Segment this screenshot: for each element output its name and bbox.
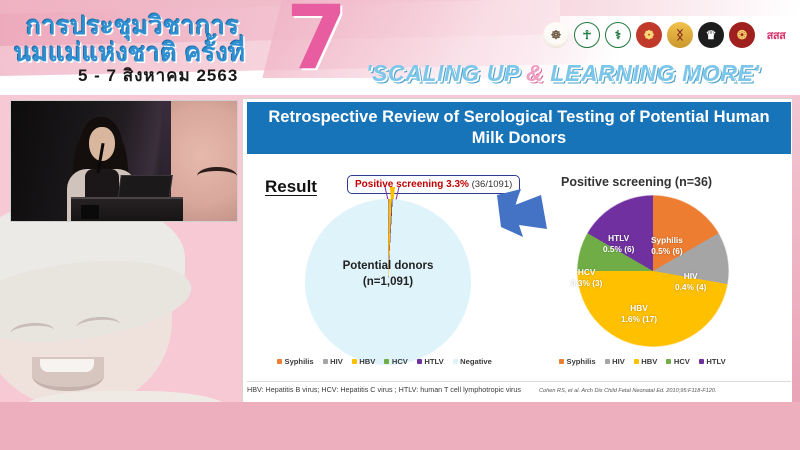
- logo-gold-garuda: ᛝ: [667, 22, 693, 48]
- legend2-swatch-syphilis: [559, 359, 564, 364]
- legend-label-hiv: HIV: [330, 357, 343, 366]
- speaker-video-feed[interactable]: [10, 100, 238, 222]
- legend-label-negative: Negative: [460, 357, 492, 366]
- legend2-swatch-hbv: [634, 359, 639, 364]
- royal-seal-logo-icon: ☸: [543, 22, 569, 48]
- logo-black-emblem: ♛: [698, 22, 724, 48]
- legend-label-syphilis: Syphilis: [285, 357, 314, 366]
- legend-item-syphilis: Syphilis: [277, 357, 314, 366]
- legend2-swatch-hcv: [666, 359, 671, 364]
- black-emblem-logo-icon: ♛: [698, 22, 724, 48]
- legend-swatch-htlv: [417, 359, 422, 364]
- blue-arrow-icon: [495, 187, 551, 239]
- presentation-slide[interactable]: Retrospective Review of Serological Test…: [242, 98, 794, 403]
- legend2-swatch-hiv: [605, 359, 610, 364]
- slice-hcv-name: HCV: [571, 267, 602, 278]
- legend-swatch-syphilis: [277, 359, 282, 364]
- slice-hiv-name: HIV: [675, 271, 706, 282]
- legend-item-hcv: HCV: [384, 357, 408, 366]
- green-circle-logo-2-icon: ⚕: [605, 22, 631, 48]
- pie-slice-label-htlv: HTLV 0.5% (6): [603, 233, 634, 255]
- footnote-abbreviations: HBV: Hepatitis B virus; HCV: Hepatitis C…: [247, 385, 521, 394]
- podium-plate: [81, 205, 99, 219]
- pie-slice-label-hiv: HIV 0.4% (4): [675, 271, 706, 293]
- red-emblem-logo-icon: ❁: [636, 22, 662, 48]
- slice-htlv-value: 0.5% (6): [603, 244, 634, 255]
- slice-htlv-name: HTLV: [603, 233, 634, 244]
- pie-slice-label-hcv: HCV 0.3% (3): [571, 267, 602, 289]
- legend2-swatch-htlv: [699, 359, 704, 364]
- positive-screening-pie-chart[interactable]: Syphilis 0.5% (6) HIV 0.4% (4) HBV 1.6% …: [565, 195, 745, 355]
- slide-title: Retrospective Review of Serological Test…: [247, 102, 791, 154]
- slice-syphilis-value: 0.5% (6): [651, 246, 683, 257]
- legend-item-htlv: HTLV: [417, 357, 444, 366]
- slice-hiv-value: 0.4% (4): [675, 282, 706, 293]
- legend-label-htlv: HTLV: [424, 357, 443, 366]
- maroon-emblem-logo-icon: ❂: [729, 22, 755, 48]
- legend-swatch-negative: [453, 359, 458, 364]
- watermark-child-teeth: [40, 359, 94, 372]
- slice-hbv-name: HBV: [621, 303, 657, 314]
- legend2-label-hbv: HBV: [641, 357, 657, 366]
- pie-slice-label-syphilis: Syphilis 0.5% (6): [651, 235, 683, 257]
- logo-maroon-emblem: ❂: [729, 22, 755, 48]
- slice-syphilis-name: Syphilis: [651, 235, 683, 246]
- tagline-ampersand: &: [526, 60, 543, 86]
- logo-royal-seal: ☸: [543, 22, 569, 48]
- logo-red-emblem: ❁: [636, 22, 662, 48]
- legend-item-negative: Negative: [453, 357, 492, 366]
- potential-donors-center-label: Potential donors (n=1,091): [291, 259, 485, 290]
- legend2-label-syphilis: Syphilis: [567, 357, 596, 366]
- legend-swatch-hiv: [323, 359, 328, 364]
- gold-garuda-logo-icon: ᛝ: [667, 22, 693, 48]
- tagline-part2: LEARNING MORE': [543, 60, 759, 86]
- right-pink-edge: [792, 95, 800, 405]
- background-child-watermark-image: [0, 205, 248, 420]
- potential-donors-label-line2: (n=1,091): [291, 275, 485, 291]
- green-circle-logo-1-icon: ☥: [574, 22, 600, 48]
- legend2-label-hcv: HCV: [674, 357, 690, 366]
- positive-screening-legend: Syphilis HIV HBV HCV HTLV: [559, 357, 726, 366]
- legend-item-hiv: HIV: [323, 357, 343, 366]
- logo-green-2: ⚕: [605, 22, 631, 48]
- potential-donors-legend: Syphilis HIV HBV HCV HTLV Negative: [277, 357, 492, 366]
- legend-swatch-hcv: [384, 359, 389, 364]
- sponsor-logo-row: ☸ ☥ ⚕ ❁ ᛝ ♛ ❂ สสส: [543, 22, 792, 48]
- slice-hbv-value: 1.6% (17): [621, 314, 657, 325]
- potential-donors-label-line1: Potential donors: [291, 259, 485, 275]
- legend2-item-htlv: HTLV: [699, 357, 726, 366]
- legend2-item-hcv: HCV: [666, 357, 690, 366]
- slide-footnote: HBV: Hepatitis B virus; HCV: Hepatitis C…: [247, 381, 791, 394]
- legend2-item-hiv: HIV: [605, 357, 625, 366]
- bottom-pink-band: [0, 402, 800, 450]
- callout-highlight: Positive screening 3.3%: [355, 179, 469, 190]
- legend-label-hbv: HBV: [359, 357, 375, 366]
- positive-screening-pie-title: Positive screening (n=36): [561, 175, 712, 189]
- legend2-label-htlv: HTLV: [706, 357, 725, 366]
- result-heading: Result: [265, 177, 317, 197]
- conference-date-thai: 5 - 7 สิงหาคม 2563: [78, 62, 238, 89]
- conference-edition-number: 7: [286, 0, 347, 82]
- slice-hcv-value: 0.3% (3): [571, 278, 602, 289]
- conference-tagline: 'SCALING UP & LEARNING MORE': [366, 60, 760, 87]
- screenshot-stage: การประชุมวิชาการ นมแม่แห่งชาติ ครั้งที่ …: [0, 0, 800, 450]
- legend-item-hbv: HBV: [352, 357, 376, 366]
- footnote-citation: Cohen RS, et al. Arch Dis Child Fetal Ne…: [539, 388, 717, 394]
- tagline-part1: 'SCALING UP: [366, 60, 526, 86]
- legend2-item-syphilis: Syphilis: [559, 357, 596, 366]
- legend-swatch-hbv: [352, 359, 357, 364]
- thaihealth-sss-logo-icon: สสส: [760, 22, 792, 48]
- pie-slice-label-hbv: HBV 1.6% (17): [621, 303, 657, 325]
- legend2-label-hiv: HIV: [612, 357, 625, 366]
- legend-label-hcv: HCV: [392, 357, 408, 366]
- legend2-item-hbv: HBV: [634, 357, 658, 366]
- conference-header-banner: การประชุมวิชาการ นมแม่แห่งชาติ ครั้งที่ …: [0, 0, 800, 95]
- logo-green-1: ☥: [574, 22, 600, 48]
- potential-donors-pie-chart[interactable]: Potential donors (n=1,091): [291, 197, 501, 367]
- logo-thaihealth: สสส: [760, 22, 792, 48]
